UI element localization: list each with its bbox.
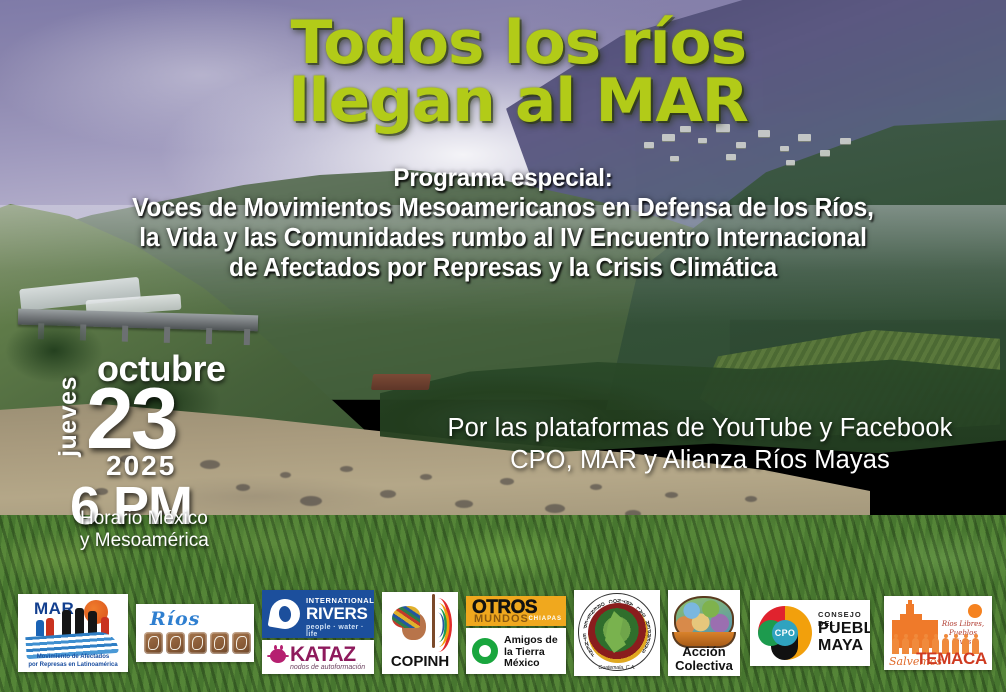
event-date-block: jueves octubre 23 2025 6 PM Horario Méxi… xyxy=(52,340,242,560)
title-line-1: Todos los ríos xyxy=(0,14,1006,72)
cpm-line-3: MAYA xyxy=(818,637,863,654)
mar-caption-line-1: Movimiento de Afectados xyxy=(37,654,109,660)
logo-amigos-tierra-mexico[interactable]: Amigos de la Tierra México xyxy=(466,628,566,674)
seal-bottom-text: Guatemala, C.A. xyxy=(574,665,660,671)
amigos-line-1: Amigos de xyxy=(504,634,558,646)
subtitle-line-2: Voces de Movimientos Mesoamericanos en D… xyxy=(18,193,989,223)
accion-colectiva-text: Acción Colectiva xyxy=(668,645,740,673)
organizer-logo-strip: MAR Movimiento de Afectados por Represas… xyxy=(0,582,1006,692)
logo-kataz[interactable]: KATAZ nodos de autoformación xyxy=(262,640,374,674)
timezone-note: Horario México y Mesoamérica xyxy=(80,508,209,552)
green-circle-icon xyxy=(472,638,498,664)
temaca-word: TEMACA xyxy=(916,649,987,669)
platforms-line-1: Por las plataformas de YouTube y Faceboo… xyxy=(420,412,980,444)
maya-glyph-icon xyxy=(210,632,229,654)
logo-international-rivers[interactable]: INTERNATIONAL RIVERS people · water · li… xyxy=(262,590,374,638)
logo-salvemos-temaca[interactable]: Ríos Libres, Pueblos Vivos. Salvemos TEM… xyxy=(884,596,992,670)
figure-icon xyxy=(36,620,44,636)
maya-glyph-icon xyxy=(188,632,207,654)
rios-script-word: Ríos xyxy=(150,608,200,630)
mar-caption: Movimiento de Afectados por Represas en … xyxy=(18,654,128,669)
poster: Todos los ríos llegan al MAR Programa es… xyxy=(0,0,1006,692)
ir-line-2: RIVERS xyxy=(306,604,368,624)
figure-icon xyxy=(62,610,71,636)
mar-caption-line-2: por Represas en Latinoamérica xyxy=(28,662,117,668)
kataz-subtitle: nodos de autoformación xyxy=(290,664,365,671)
subtitle-line-1: Programa especial: xyxy=(18,163,989,193)
poster-subtitle: Programa especial: Voces de Movimientos … xyxy=(18,163,989,283)
amigos-line-3: México xyxy=(504,657,540,669)
logo-frente-petenero[interactable]: FRENTE PETENERO CONTRA LAS REPRESAS Guat… xyxy=(574,590,660,676)
logo-otros-mundos[interactable]: OTROS MUNDOS CHIAPAS xyxy=(466,596,566,626)
cpm-lines: PUEBLO MAYA xyxy=(818,620,870,654)
sun-icon xyxy=(968,604,982,618)
seal-ring-text: FRENTE PETENERO CONTRA LAS REPRESAS xyxy=(574,590,660,676)
poster-title: Todos los ríos llegan al MAR xyxy=(0,14,1006,130)
weekday-label: jueves xyxy=(54,376,83,457)
ir-line-3: people · water · life xyxy=(306,624,374,638)
timezone-line-2: y Mesoamérica xyxy=(80,530,209,552)
logo-rios-mayas[interactable]: Ríos xyxy=(136,604,254,662)
logo-mar[interactable]: MAR Movimiento de Afectados por Represas… xyxy=(18,594,128,672)
water-drop-icon xyxy=(268,597,303,632)
figure-icon xyxy=(75,608,84,636)
indigenous-woman-icon xyxy=(392,606,426,644)
color-arc-icon xyxy=(424,598,452,652)
day-number: 23 xyxy=(86,378,176,460)
broadcast-platforms: Por las plataformas de YouTube y Faceboo… xyxy=(420,412,980,476)
maya-glyph-icon xyxy=(166,632,185,654)
accion-line-2: Colectiva xyxy=(675,658,733,673)
accion-line-1: Acción xyxy=(682,644,725,659)
logo-accion-colectiva[interactable]: Acción Colectiva xyxy=(668,590,740,676)
maya-glyph-icons xyxy=(144,632,251,654)
title-line-2: llegan al MAR xyxy=(0,72,1006,130)
figure-icon xyxy=(46,618,54,636)
cpm-line-2: PUEBLO xyxy=(818,620,870,637)
cpo-mark-icon: CPO xyxy=(758,606,812,660)
logo-consejo-pueblo-maya[interactable]: CPO CONSEJO DEL PUEBLO MAYA xyxy=(750,600,870,666)
subtitle-line-4: de Afectados por Represas y la Crisis Cl… xyxy=(18,253,989,283)
amigos-text: Amigos de la Tierra México xyxy=(504,635,558,670)
maya-glyph-icon xyxy=(144,632,163,654)
temaca-motto-line-1: Ríos Libres, xyxy=(942,620,984,628)
timezone-line-1: Horario México xyxy=(80,508,209,530)
otros-word-3: CHIAPAS xyxy=(528,616,562,622)
maya-glyph-icon xyxy=(232,632,251,654)
subtitle-line-3: la Vida y las Comunidades rumbo al IV En… xyxy=(18,223,989,253)
amigos-line-2: la Tierra xyxy=(504,646,545,658)
logo-copinh[interactable]: COPINH xyxy=(382,592,458,674)
otros-word-2: MUNDOS xyxy=(474,613,529,625)
copinh-word: COPINH xyxy=(382,653,458,670)
platforms-line-2: CPO, MAR y Alianza Ríos Mayas xyxy=(420,444,980,476)
ladybug-icon xyxy=(267,645,289,667)
cpo-initials: CPO xyxy=(772,620,798,646)
